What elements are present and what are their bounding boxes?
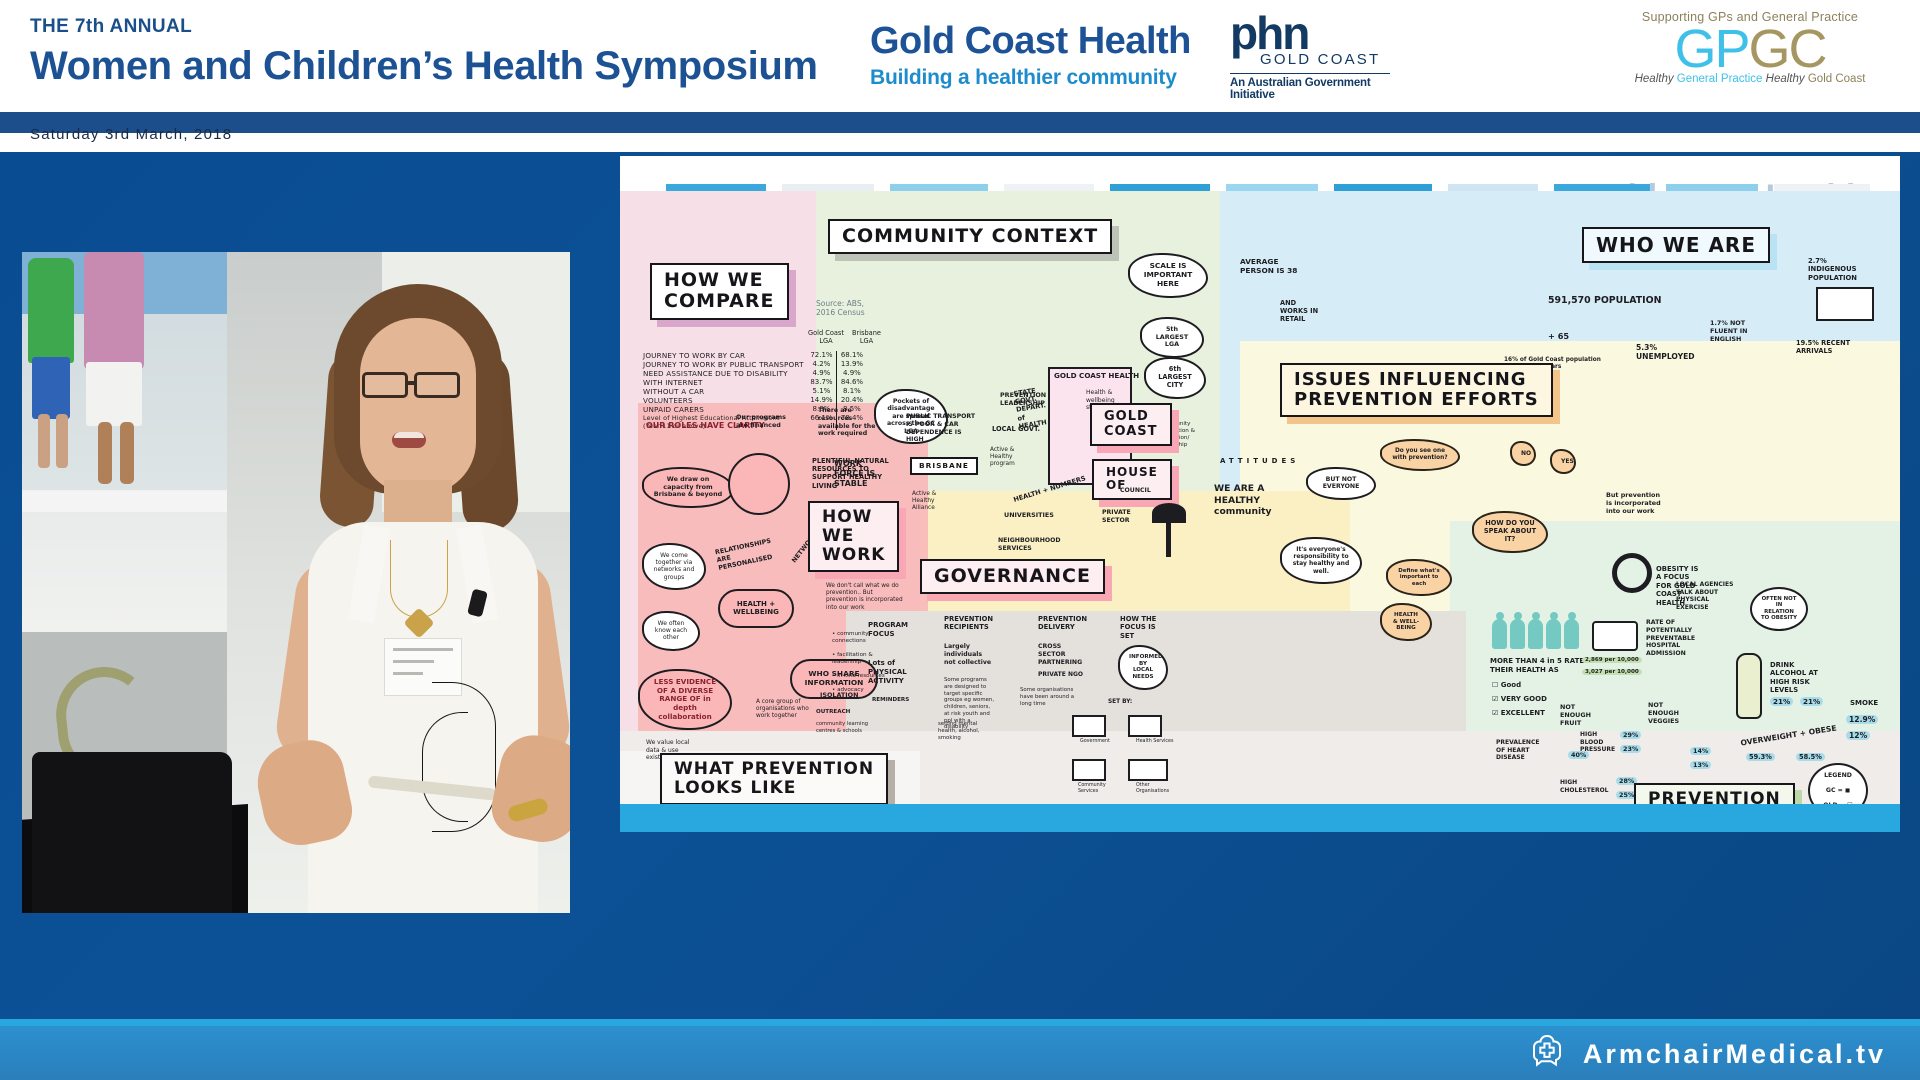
stat-smoke-qld-value: 12% — [1846, 731, 1870, 740]
note-universities: UNIVERSITIES — [1004, 511, 1054, 519]
stat-drink-alcohol-label: DRINK ALCOHOL AT HIGH RISK LEVELS — [1770, 661, 1824, 695]
compare-col-bne: Brisbane LGA — [852, 329, 881, 345]
compare-source-note: Source: ABS, 2016 Census — [816, 299, 865, 318]
compare-row-label: VOLUNTEERS — [640, 396, 807, 405]
palm-tree-leaves-icon — [1152, 503, 1186, 523]
compare-row-bne: 20.4% — [837, 396, 867, 405]
stat-not-enough-fruit: NOT ENOUGH FRUIT — [1560, 703, 1606, 727]
stat-overweight-gc: 59.3% — [1746, 753, 1775, 761]
stat-veggies-pct-1: 14% — [1690, 747, 1711, 755]
laptop-screen — [32, 752, 232, 913]
stat-smoke-label: SMOKE — [1850, 699, 1878, 708]
heading-issues-influencing: ISSUES INFLUENCING PREVENTION EFFORTS — [1280, 363, 1553, 417]
note-health-services: Health Services — [1136, 739, 1174, 745]
stat-very-good-label: VERY GOOD — [1501, 695, 1547, 703]
page-title: Women and Children’s Health Symposium — [30, 44, 818, 89]
note-we-are-healthy-community: WE ARE A HEALTHY community — [1214, 483, 1298, 518]
stat-alcohol-gc: 21% — [1770, 697, 1793, 706]
note-plentiful-natural-resources: PLENTIFUL NATURAL RESOURCES TO SUPPORT H… — [812, 457, 894, 490]
note-no: NO — [1510, 441, 1536, 466]
note-gold-coast-health: GOLD COAST HEALTH — [1054, 371, 1139, 380]
compare-col-gc: Gold Coast LGA — [808, 329, 844, 345]
table-row: JOURNEY TO WORK BY PUBLIC TRANSPORT 4.2%… — [640, 360, 867, 369]
stat-excellent-label: EXCELLENT — [1501, 709, 1545, 717]
stat-bp-gc-value: 29% — [1620, 731, 1641, 739]
slide-dash-rule — [620, 184, 1900, 191]
phn-wordmark: phn — [1230, 14, 1390, 53]
stat-alcohol-qld: 21% — [1800, 697, 1823, 706]
stat-admission-qld: 3,027 per 10,000 — [1582, 669, 1642, 676]
gch-logo-tagline: Building a healthier community — [870, 66, 1191, 90]
stat-average-person-age: AVERAGE PERSON IS 38 — [1240, 257, 1304, 276]
compare-row-label: WITH INTERNET — [640, 378, 807, 387]
stat-admission-gc: 2,869 per 10,000 — [1582, 657, 1642, 664]
note-private-sector: PRIVATE SECTOR — [1102, 509, 1138, 525]
stat-alcohol-qld-value: 21% — [1800, 697, 1823, 706]
people-row-icon — [1492, 619, 1579, 649]
poster-adult-shorts — [86, 362, 142, 426]
note-programs-financed: Our programs are financed — [736, 413, 792, 429]
compare-row-gc: 4.9% — [807, 369, 837, 378]
poster-adult-leg-left — [98, 422, 112, 484]
stat-recent-arrivals: 19.5% RECENT ARRIVALS — [1796, 339, 1858, 355]
stat-works-in-retail: AND WORKS IN RETAIL — [1280, 299, 1320, 324]
compare-row-label: WITHOUT A CAR — [640, 387, 807, 396]
note-do-you-see-role: Do you see one with prevention? — [1380, 439, 1460, 471]
worker-portrait-circle-icon — [728, 453, 790, 515]
symposium-title-block: THE 7th ANNUAL Women and Children’s Heal… — [30, 16, 818, 89]
work-list-item-1: community connections — [832, 631, 869, 644]
speaker-teeth — [394, 432, 424, 438]
beach-poster-image — [22, 252, 227, 632]
stat-veggies-value-2: 13% — [1690, 761, 1711, 769]
note-define-whats-important: Define what's important to each — [1386, 559, 1452, 596]
stat-high-blood-pressure-label: HIGH BLOOD PRESSURE — [1580, 731, 1616, 754]
stat-admission-gc-value: 2,869 per 10,000 — [1582, 657, 1642, 663]
note-reminders: REMINDERS — [872, 697, 909, 704]
necklace-chain — [390, 540, 448, 618]
stat-overweight-gc-value: 59.3% — [1746, 753, 1775, 761]
legend-gc: GC = — [1826, 787, 1843, 794]
gpgc-healthy-1: Healthy — [1635, 73, 1674, 85]
gpgc-strapline: Healthy General Practice Healthy Gold Co… — [1600, 73, 1900, 85]
speaker-glasses — [362, 372, 474, 400]
note-community-learning-centres: community learning centres & schools — [816, 721, 882, 734]
date-bar — [0, 133, 1920, 152]
note-orgs-long-time: Some organisations have been around a lo… — [1020, 687, 1076, 707]
legend-title: LEGEND — [1824, 772, 1852, 779]
note-prevention-leadership: PREVENTION LEADERSHIP — [1000, 391, 1050, 407]
stat-veggies-pct-2: 13% — [1690, 761, 1711, 769]
table-row: NEED ASSISTANCE DUE TO DISABILITY 4.9% 4… — [640, 369, 867, 378]
footer-cyan-rule — [0, 1019, 1920, 1026]
stat-smoke-gc-value: 12.9% — [1846, 715, 1878, 724]
note-government: Government — [1080, 739, 1110, 745]
presentation-stage: Gold Coast Health — [0, 152, 1920, 1026]
note-active-healthy-alliance: Active & Healthy Alliance — [912, 491, 954, 513]
note-prevention-delivery: PREVENTION DELIVERY — [1038, 615, 1084, 632]
note-lots-physical-activity: Lots of PHYSICAL ACTIVITY — [868, 659, 912, 685]
stat-not-enough-veggies: NOT ENOUGH VEGGIES — [1648, 701, 1696, 725]
table-row: WITHOUT A CAR 5.1% 8.1% — [640, 387, 867, 396]
poster-adult-leg-right — [120, 422, 134, 484]
note-neighbourhood-services: NEIGHBOURHOOD SERVICES — [998, 537, 1058, 553]
compare-row-label: JOURNEY TO WORK BY PUBLIC TRANSPORT — [640, 360, 807, 369]
mic-cable-2 — [422, 712, 468, 822]
compare-row-bne: 8.1% — [837, 387, 867, 396]
work-list-item-2: facilitation & leadership — [832, 652, 873, 665]
stat-good-label: Good — [1501, 681, 1521, 689]
stat-alcohol-gc-value: 21% — [1770, 697, 1793, 706]
stat-bp-gc: 29% — [1620, 731, 1641, 739]
note-set-by: SET BY: — [1108, 699, 1132, 706]
note-active-healthy-program: Active & Healthy program — [990, 447, 1032, 469]
stat-high-cholesterol-label: HIGH CHOLESTEROL — [1560, 779, 1602, 794]
note-local-agencies-exercise: LOCAL AGENCIES TALK ABOUT PHYSICAL EXERC… — [1676, 581, 1738, 611]
heading-governance: GOVERNANCE — [920, 559, 1105, 594]
stat-admission-qld-value: 3,027 per 10,000 — [1582, 669, 1642, 675]
note-cross-sector-partnering: CROSS SECTOR PARTNERING — [1038, 643, 1086, 666]
note-how-focus-set: HOW THE FOCUS IS SET — [1120, 615, 1164, 640]
compare-row-bne: 68.1% — [837, 351, 867, 360]
stat-population: 591,570 POPULATION — [1548, 295, 1662, 307]
note-attitudes: ATTITUDES — [1220, 457, 1299, 466]
compare-row-gc: 14.9% — [807, 396, 837, 405]
stat-rate-health-as: MORE THAN 4 in 5 RATE THEIR HEALTH AS — [1490, 657, 1586, 675]
stat-overweight-qld: 58.5% — [1796, 753, 1825, 761]
note-prevention-recipients: PREVENTION RECIPIENTS — [944, 615, 994, 632]
poster-child-green-shirt — [28, 258, 74, 363]
heading-gold-coast: GOLD COAST — [1090, 403, 1172, 446]
gpgc-healthy-2: Healthy — [1766, 73, 1805, 85]
gpgc-gold-coast: Gold Coast — [1808, 73, 1866, 85]
stat-bp-qld: 23% — [1620, 745, 1641, 753]
stat-veggies-value-1: 14% — [1690, 747, 1711, 755]
stat-over-65-label: + 65 — [1548, 331, 1569, 341]
slide-bottom-cyan-bar — [620, 804, 1900, 832]
note-council: COUNCIL — [1120, 487, 1151, 495]
phn-tagline: An Australian Government Initiative — [1230, 77, 1390, 101]
stat-good: ☐ Good — [1492, 681, 1521, 690]
header-blue-rule — [0, 112, 1920, 133]
ambulance-icon — [1592, 621, 1638, 651]
armchair-medical-wordmark: ArmchairMedical.tv — [1583, 1039, 1886, 1070]
table-row: JOURNEY TO WORK BY CAR 72.1% 68.1% — [640, 351, 867, 360]
note-dont-call-it-prevention: We don't call what we do prevention.. Bu… — [826, 583, 904, 612]
note-brisbane-sign: BRISBANE — [910, 457, 978, 475]
poster-surf-foam — [22, 490, 227, 512]
gpgc-logo: Supporting GPs and General Practice GPGC… — [1600, 10, 1900, 85]
note-setting-mental-health: setting mental health, alcohol, smoking — [938, 721, 986, 741]
compare-row-bne: 13.9% — [837, 360, 867, 369]
armchair-medical-branding[interactable]: ArmchairMedical.tv — [1527, 1034, 1886, 1075]
poster-child-shorts — [32, 357, 70, 419]
stat-bp-qld-value: 23% — [1620, 745, 1641, 753]
page-header: THE 7th ANNUAL Women and Children’s Heal… — [0, 0, 1920, 112]
note-other-organisations: Other Organisations — [1136, 783, 1176, 795]
stat-very-good: ☑ VERY GOOD — [1492, 695, 1547, 704]
compare-row-gc: 4.2% — [807, 360, 837, 369]
header-kicker: THE 7th ANNUAL — [30, 16, 818, 38]
compare-row-gc: 83.7% — [807, 378, 837, 387]
compare-row-label: NEED ASSISTANCE DUE TO DISABILITY — [640, 369, 807, 378]
table-row: VOLUNTEERS 14.9% 20.4% — [640, 396, 867, 405]
note-public-transport-poor: PUBLIC TRANSPORT IS POOR & CAR DEPENDENC… — [906, 413, 978, 444]
phn-divider — [1230, 73, 1390, 74]
gpgc-wordmark: GPGC — [1600, 24, 1900, 75]
poster-adult-shirt — [84, 252, 144, 370]
note-but-not-everyone: BUT NOT EVERYONE — [1306, 467, 1376, 500]
compare-row-bne: 4.9% — [837, 369, 867, 378]
heading-how-we-compare: HOW WE COMPARE — [650, 263, 789, 320]
phn-region-label: GOLD COAST — [1260, 51, 1390, 68]
compare-row-gc: 72.1% — [807, 351, 837, 360]
stat-excellent: ☑ EXCELLENT — [1492, 709, 1545, 718]
note-community-services: Community Services — [1078, 783, 1118, 795]
heading-how-we-work: HOW WE WORK — [808, 501, 899, 572]
note-local-govt: LOCAL GOVT. — [992, 425, 1040, 433]
note-often-not-obesity: OFTEN NOT IN RELATION TO OBESITY — [1750, 587, 1808, 631]
obesity-ring-icon — [1612, 553, 1652, 593]
compare-row-bne: 84.6% — [837, 378, 867, 387]
slide-panel[interactable]: Gold Coast Health — [620, 156, 1900, 832]
wine-bottle-icon — [1736, 653, 1762, 719]
gpgc-general-practice: General Practice — [1677, 73, 1763, 85]
gpgc-letters-gc: GC — [1749, 19, 1826, 79]
note-program-focus: PROGRAM FOCUS — [868, 621, 910, 639]
stat-overweight-qld-value: 58.5% — [1796, 753, 1825, 761]
event-date: Saturday 3rd March, 2018 — [30, 126, 232, 143]
stat-prevalence-heart-disease: PREVALENCE OF HEART DISEASE — [1496, 739, 1550, 762]
note-health-wellbeing: HEALTH + WELLBEING — [718, 589, 794, 628]
note-isolation: ISOLATION — [820, 691, 858, 699]
glasses-lens-right — [414, 372, 460, 398]
note-largely-individuals: Largely individuals not collective — [944, 643, 994, 666]
compare-row-gc: 5.1% — [807, 387, 837, 396]
glasses-lens-left — [362, 372, 408, 398]
graphic-recording: HOW WE COMPARE Source: ABS, 2016 Census … — [620, 191, 1900, 804]
heading-what-prevention-looks-like: WHAT PREVENTION LOOKS LIKE — [660, 753, 888, 805]
stat-smoke-gc: 12.9% — [1846, 715, 1878, 724]
table-row: WITH INTERNET 83.7% 84.6% — [640, 378, 867, 387]
heading-who-we-are: WHO WE ARE — [1582, 227, 1770, 263]
stat-preventable-admission-label: RATE OF POTENTIALLY PREVENTABLE HOSPITAL… — [1646, 619, 1698, 658]
armchair-medical-cross-icon — [1527, 1034, 1567, 1075]
heading-community-context: COMMUNITY CONTEXT — [828, 219, 1112, 254]
other-organisations-building-icon — [1128, 759, 1168, 781]
gold-coast-health-logo: Gold Coast Health Building a healthier c… — [870, 22, 1191, 90]
note-resources-available: There are resources available for the wo… — [818, 407, 880, 438]
note-yes: YES — [1550, 449, 1576, 474]
stat-indigenous-population: 2.7% INDIGENOUS POPULATION — [1808, 257, 1866, 282]
poster-sand — [22, 492, 227, 632]
health-services-building-icon — [1128, 715, 1162, 737]
community-services-building-icon — [1072, 759, 1106, 781]
note-prevention-incorporated: But prevention is incorporated into our … — [1606, 491, 1664, 515]
note-core-group-orgs: A core group of organisations who work t… — [756, 699, 812, 721]
poster-child-leg-right — [56, 414, 68, 468]
speaker-video-panel[interactable] — [22, 252, 570, 913]
phn-gold-coast-logo: phn GOLD COAST An Australian Government … — [1230, 14, 1390, 101]
poster-child-leg-left — [38, 414, 50, 468]
speaker-figure — [272, 282, 570, 913]
compare-row-label: JOURNEY TO WORK BY CAR — [640, 351, 807, 360]
flag-icon — [1816, 287, 1874, 321]
gch-logo-name: Gold Coast Health — [870, 22, 1191, 60]
stat-unemployed: 5.3% UNEMPLOYED — [1636, 343, 1680, 362]
government-building-icon — [1072, 715, 1106, 737]
speaker-face — [360, 318, 476, 494]
stat-not-fluent-english: 1.7% NOT FLUENT IN ENGLISH — [1710, 319, 1754, 343]
stat-smoke-qld: 12% — [1846, 731, 1870, 740]
gpgc-letters-gp: GP — [1674, 19, 1748, 79]
note-private-ngo: PRIVATE NGO — [1038, 671, 1090, 679]
note-outreach: OUTREACH — [816, 709, 850, 716]
